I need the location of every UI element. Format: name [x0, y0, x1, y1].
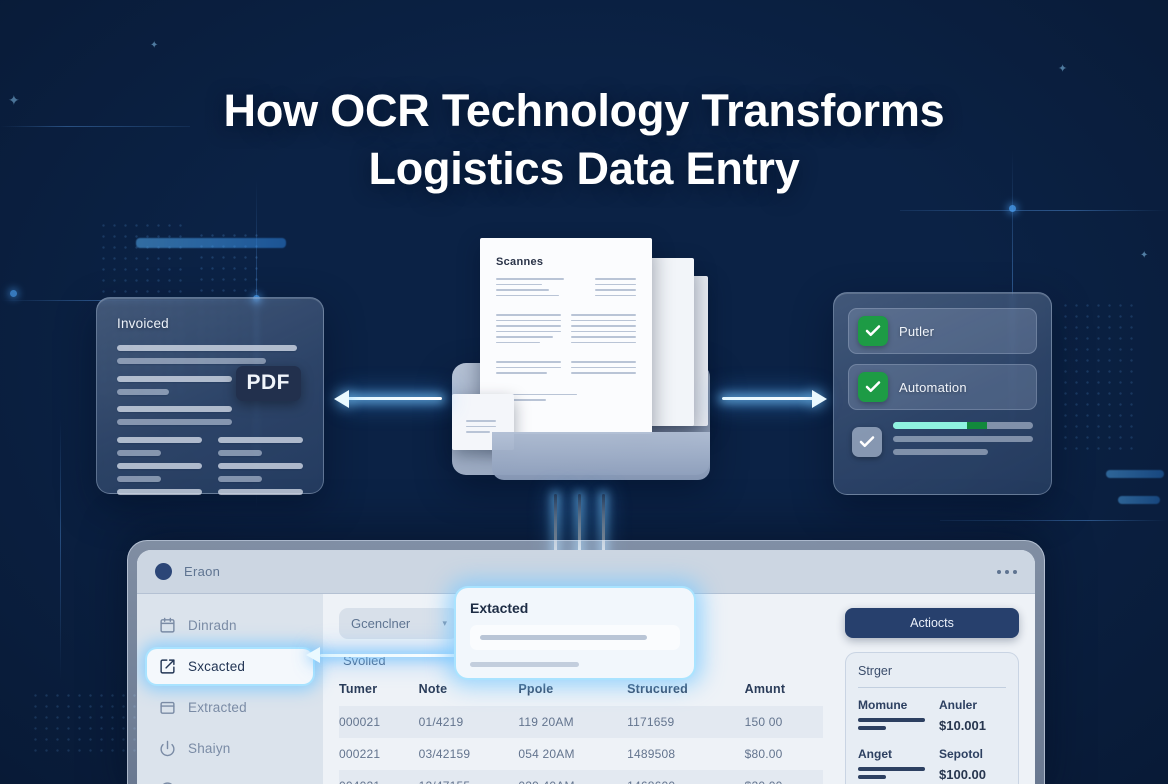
page-title-line-1: How OCR Technology Transforms [224, 85, 945, 136]
more-horizontal-icon[interactable] [997, 570, 1017, 574]
table-header-cell: Note [419, 682, 519, 706]
calendar-icon [159, 617, 176, 634]
power-icon [159, 740, 176, 757]
chevron-down-icon: ▾ [442, 618, 447, 629]
invoice-skeleton-columns [117, 437, 303, 502]
table-cell: 029 40AM [518, 770, 627, 784]
table-row[interactable]: 004021 12/47155 029 40AM 1468600 $20.00 [339, 770, 823, 784]
checkmark-icon[interactable] [858, 372, 888, 402]
page-title-line-2: Logistics Data Entry [0, 140, 1168, 198]
document-title: Scannes [496, 256, 636, 268]
table-cell: 1171659 [627, 706, 744, 738]
table-cell: $80.00 [745, 738, 823, 770]
dashboard-right-rail: Actiocts Strger Momune Anuler $10.001 [839, 594, 1035, 784]
document-text-footer [496, 394, 636, 401]
table-cell: 150 00 [745, 706, 823, 738]
checklist-row[interactable]: Automation [848, 364, 1037, 410]
table-cell: 054 20AM [518, 738, 627, 770]
sidebar-item-label: Shaiyn [188, 741, 230, 756]
filter-select[interactable]: Gcenclner ▾ [339, 608, 459, 639]
summary-stat-key: Anget [858, 747, 925, 761]
dashboard-sidebar: Dinradn Sxcacted Extracted Shaiyn Dalcom… [137, 594, 323, 784]
checklist-row[interactable]: Putler [848, 308, 1037, 354]
checkmark-icon[interactable] [858, 316, 888, 346]
checkmark-icon[interactable] [852, 427, 882, 457]
summary-stat-value-key: Anuler [939, 698, 1006, 712]
document-text-columns-top [496, 278, 636, 300]
checklist-label: Automation [899, 380, 967, 395]
table-cell: 000221 [339, 738, 419, 770]
table-cell: 12/47155 [419, 770, 519, 784]
table-header-cell: Strucured [627, 682, 744, 706]
invoice-card[interactable]: Invoiced PDF [96, 297, 324, 494]
extracted-callout-field [470, 625, 680, 650]
app-logo-icon [155, 563, 172, 580]
checklist-label: Putler [899, 324, 934, 339]
summary-panel: Strger Momune Anuler $10.001 [845, 652, 1019, 784]
page-title: How OCR Technology Transforms Logistics … [0, 82, 1168, 198]
table-header-cell: Tumer [339, 682, 419, 706]
file-export-icon [159, 658, 176, 675]
invoice-skeleton-mid2 [117, 406, 303, 425]
extracted-callout[interactable]: Extacted [456, 588, 694, 678]
summary-stat-row: Anget Sepotol $100.00 [858, 747, 1006, 783]
actions-button[interactable]: Actiocts [845, 608, 1019, 638]
table-header-cell: Ppole [518, 682, 627, 706]
sidebar-item-dinradn[interactable]: Dinradn [147, 608, 313, 643]
summary-stat-value-key: Sepotol [939, 747, 1006, 761]
summary-stat-row: Momune Anuler $10.001 [858, 698, 1006, 734]
table-cell: 119 20AM [518, 706, 627, 738]
table-cell: 1489508 [627, 738, 744, 770]
extracted-callout-subline [470, 662, 579, 667]
extracted-callout-title: Extacted [470, 600, 680, 616]
table-cell: 01/4219 [419, 706, 519, 738]
invoice-card-title: Invoiced [117, 316, 303, 331]
table-row[interactable]: 000221 03/42159 054 20AM 1489508 $80.00 [339, 738, 823, 770]
document-text-columns-bottom [496, 361, 636, 378]
table-header-row: Tumer Note Ppole Strucured Amunt [339, 682, 823, 706]
summary-panel-title: Strger [858, 664, 1006, 678]
checklist-card[interactable]: Putler Automation [833, 292, 1052, 495]
table-cell: 03/42159 [419, 738, 519, 770]
table-cell: 004021 [339, 770, 419, 784]
extracted-data-table: Tumer Note Ppole Strucured Amunt 000021 … [339, 682, 823, 784]
table-cell: 1468600 [627, 770, 744, 784]
table-header-cell: Amunt [745, 682, 823, 706]
sidebar-item-extracted[interactable]: Extracted [147, 690, 313, 725]
summary-stat-value: $10.001 [939, 718, 1006, 733]
folder-icon [159, 699, 176, 716]
summary-stat-key: Momune [858, 698, 925, 712]
document-text-columns-mid [496, 314, 636, 347]
table-cell: $20.00 [745, 770, 823, 784]
sidebar-item-label: Extracted [188, 700, 247, 715]
sidebar-item-label: Sxcacted [188, 659, 245, 674]
invoice-skeleton-top [117, 345, 303, 364]
checklist-progress-row[interactable] [848, 420, 1037, 464]
document-stack: Scannes [450, 236, 712, 484]
filter-select-value: Gcenclner [351, 616, 410, 631]
progress-bar [893, 422, 1033, 429]
checklist-progress-lines [893, 422, 1033, 462]
table-row[interactable]: 000021 01/4219 119 20AM 1171659 150 00 [339, 706, 823, 738]
table-cell: 000021 [339, 706, 419, 738]
sidebar-item-label: Dinradn [188, 618, 237, 633]
dashboard-brand: Eraon [184, 564, 220, 579]
summary-stat-value: $100.00 [939, 767, 1006, 782]
sidebar-item-sxcacted[interactable]: Sxcacted [147, 649, 313, 684]
sidebar-item-dalcoms[interactable]: Dalcoms [147, 772, 313, 784]
sidebar-item-shaiyn[interactable]: Shaiyn [147, 731, 313, 766]
pdf-badge: PDF [236, 366, 302, 401]
document-tray-front [492, 432, 710, 480]
